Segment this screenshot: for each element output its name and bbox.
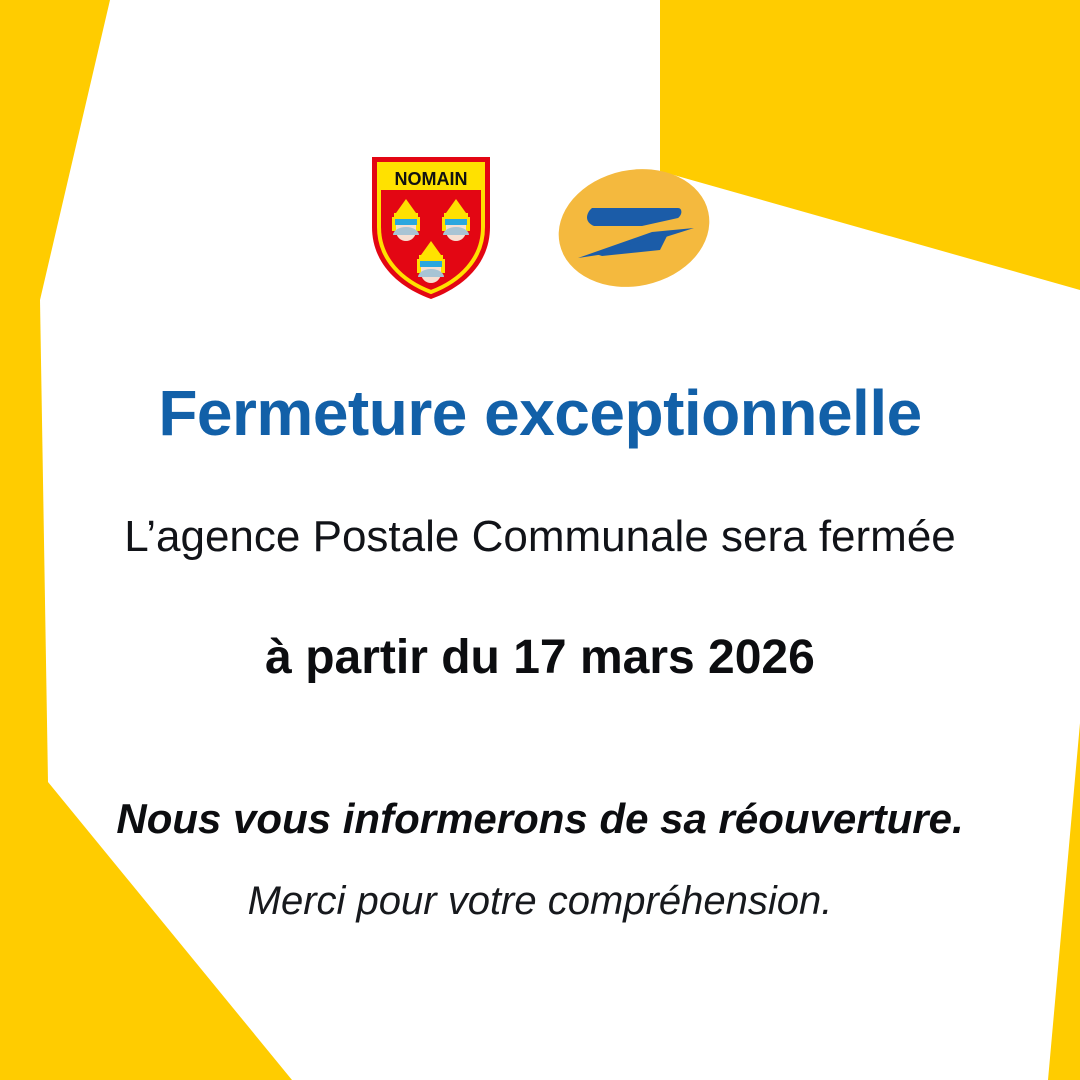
coat-of-arms-town-label: NOMAIN: [395, 169, 468, 189]
page-title: Fermeture exceptionnelle: [0, 380, 1080, 447]
closure-subtitle: L’agence Postale Communale sera fermée: [0, 447, 1080, 561]
nomain-coat-of-arms-icon: NOMAIN: [368, 153, 494, 303]
thanks-note: Merci pour votre compréhension.: [0, 843, 1080, 923]
reopening-notice: Nous vous informerons de sa réouverture.: [0, 684, 1080, 842]
la-poste-ellipse: [556, 166, 712, 290]
la-poste-logo-icon: [556, 166, 712, 290]
logo-row: NOMAIN: [0, 148, 1080, 308]
poster-canvas: NOMAIN: [0, 0, 1080, 1080]
message-block: Fermeture exceptionnelle L’agence Postal…: [0, 380, 1080, 923]
closure-date: à partir du 17 mars 2026: [0, 562, 1080, 685]
